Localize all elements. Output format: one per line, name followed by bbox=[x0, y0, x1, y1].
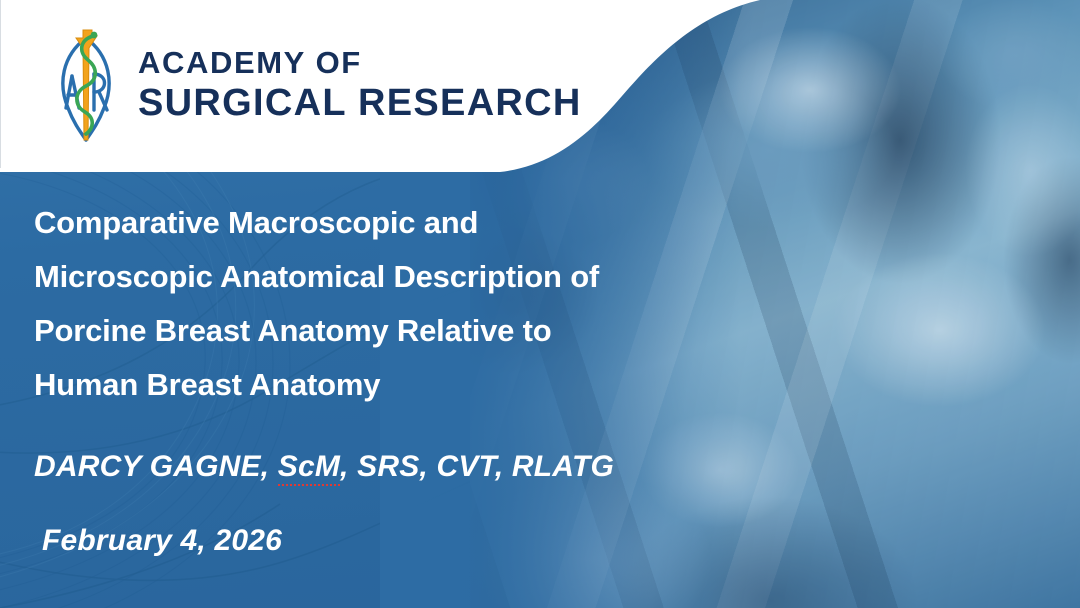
header-left-edge-line bbox=[0, 0, 1, 168]
title-line-4: Human Breast Anatomy bbox=[34, 358, 724, 412]
presentation-title-slide: ACADEMY OF SURGICAL RESEARCH Comparative… bbox=[0, 0, 1080, 608]
presenter-byline: DARCY GAGNE, ScM, SRS, CVT, RLATG bbox=[34, 450, 614, 484]
byline-name: DARCY GAGNE, bbox=[34, 450, 278, 483]
logo-wordmark: ACADEMY OF SURGICAL RESEARCH bbox=[138, 47, 582, 122]
title-line-3: Porcine Breast Anatomy Relative to bbox=[34, 304, 724, 358]
logo-line-academy-of: ACADEMY OF bbox=[138, 47, 582, 78]
asr-caduceus-monogram-logo-icon bbox=[52, 22, 120, 146]
byline-credential-spellcheck: ScM bbox=[278, 450, 340, 486]
byline-credentials: , SRS, CVT, RLATG bbox=[340, 450, 614, 483]
logo-line-surgical-research: SURGICAL RESEARCH bbox=[138, 84, 582, 122]
organization-logo: ACADEMY OF SURGICAL RESEARCH bbox=[52, 22, 582, 146]
presentation-date: February 4, 2026 bbox=[42, 524, 282, 558]
title-line-2: Microscopic Anatomical Description of bbox=[34, 250, 724, 304]
title-line-1: Comparative Macroscopic and bbox=[34, 196, 724, 250]
presentation-title: Comparative Macroscopic and Microscopic … bbox=[34, 196, 724, 412]
